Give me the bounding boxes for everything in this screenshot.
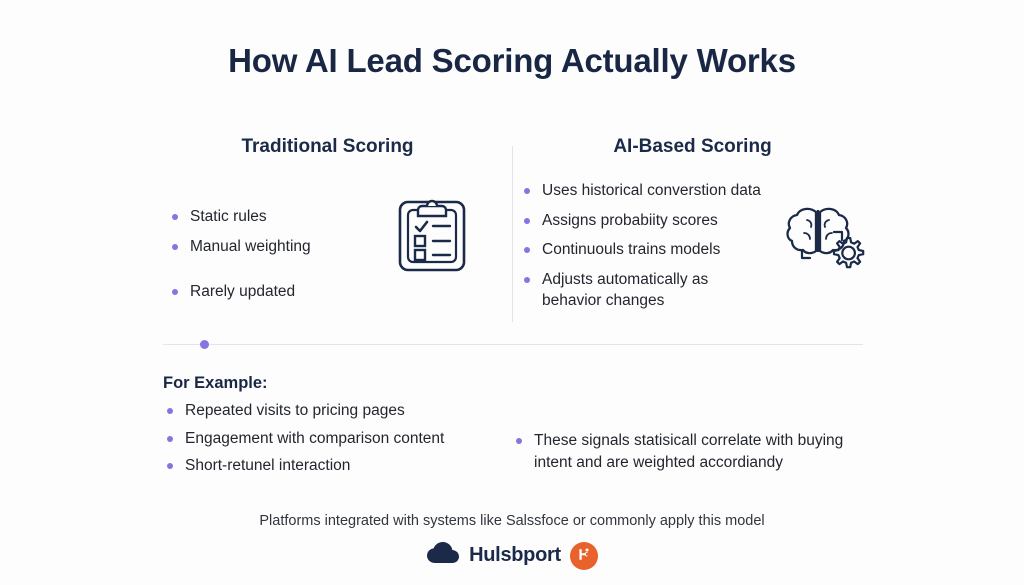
list-item: Continuouls trains models xyxy=(520,239,770,261)
signal-note-list: These signals statisicall correlate with… xyxy=(512,430,882,473)
brand-logo: Hulsbport xyxy=(0,541,1024,570)
list-item: Engagement with comparison content xyxy=(163,428,503,450)
ai-scoring-list: Uses historical converstion data Assigns… xyxy=(520,180,770,320)
list-item: Manual weighting xyxy=(168,236,378,258)
list-item: Uses historical converstion data xyxy=(520,180,770,202)
example-list: Repeated visits to pricing pages Engagem… xyxy=(163,400,503,483)
traditional-scoring-list: Static rules Manual weighting Rarely upd… xyxy=(168,206,378,311)
footer-note: Platforms integrated with systems like S… xyxy=(0,513,1024,529)
page-title: How AI Lead Scoring Actually Works xyxy=(0,42,1024,80)
column-divider xyxy=(512,146,513,322)
clipboard-checklist-icon xyxy=(396,194,468,279)
column-heading-ai: AI-Based Scoring xyxy=(520,136,865,158)
example-heading: For Example: xyxy=(163,374,268,393)
list-item: Static rules xyxy=(168,206,378,228)
list-item: Adjusts automatically as behavior change… xyxy=(520,269,770,312)
column-heading-traditional: Traditional Scoring xyxy=(150,136,505,158)
section-divider xyxy=(163,344,863,345)
hubspot-sprocket-icon xyxy=(570,542,598,570)
list-item: Short-retunel interaction xyxy=(163,455,503,477)
slide-canvas: How AI Lead Scoring Actually Works Tradi… xyxy=(0,0,1024,585)
list-item: Assigns probabiity scores xyxy=(520,210,770,232)
list-item: These signals statisicall correlate with… xyxy=(512,430,882,473)
list-item: Repeated visits to pricing pages xyxy=(163,400,503,422)
list-item: Rarely updated xyxy=(168,281,378,303)
logo-wordmark: Hulsbport xyxy=(469,544,561,567)
cloud-icon xyxy=(426,541,460,570)
divider-dot xyxy=(200,340,209,349)
brain-gear-icon xyxy=(780,200,870,283)
